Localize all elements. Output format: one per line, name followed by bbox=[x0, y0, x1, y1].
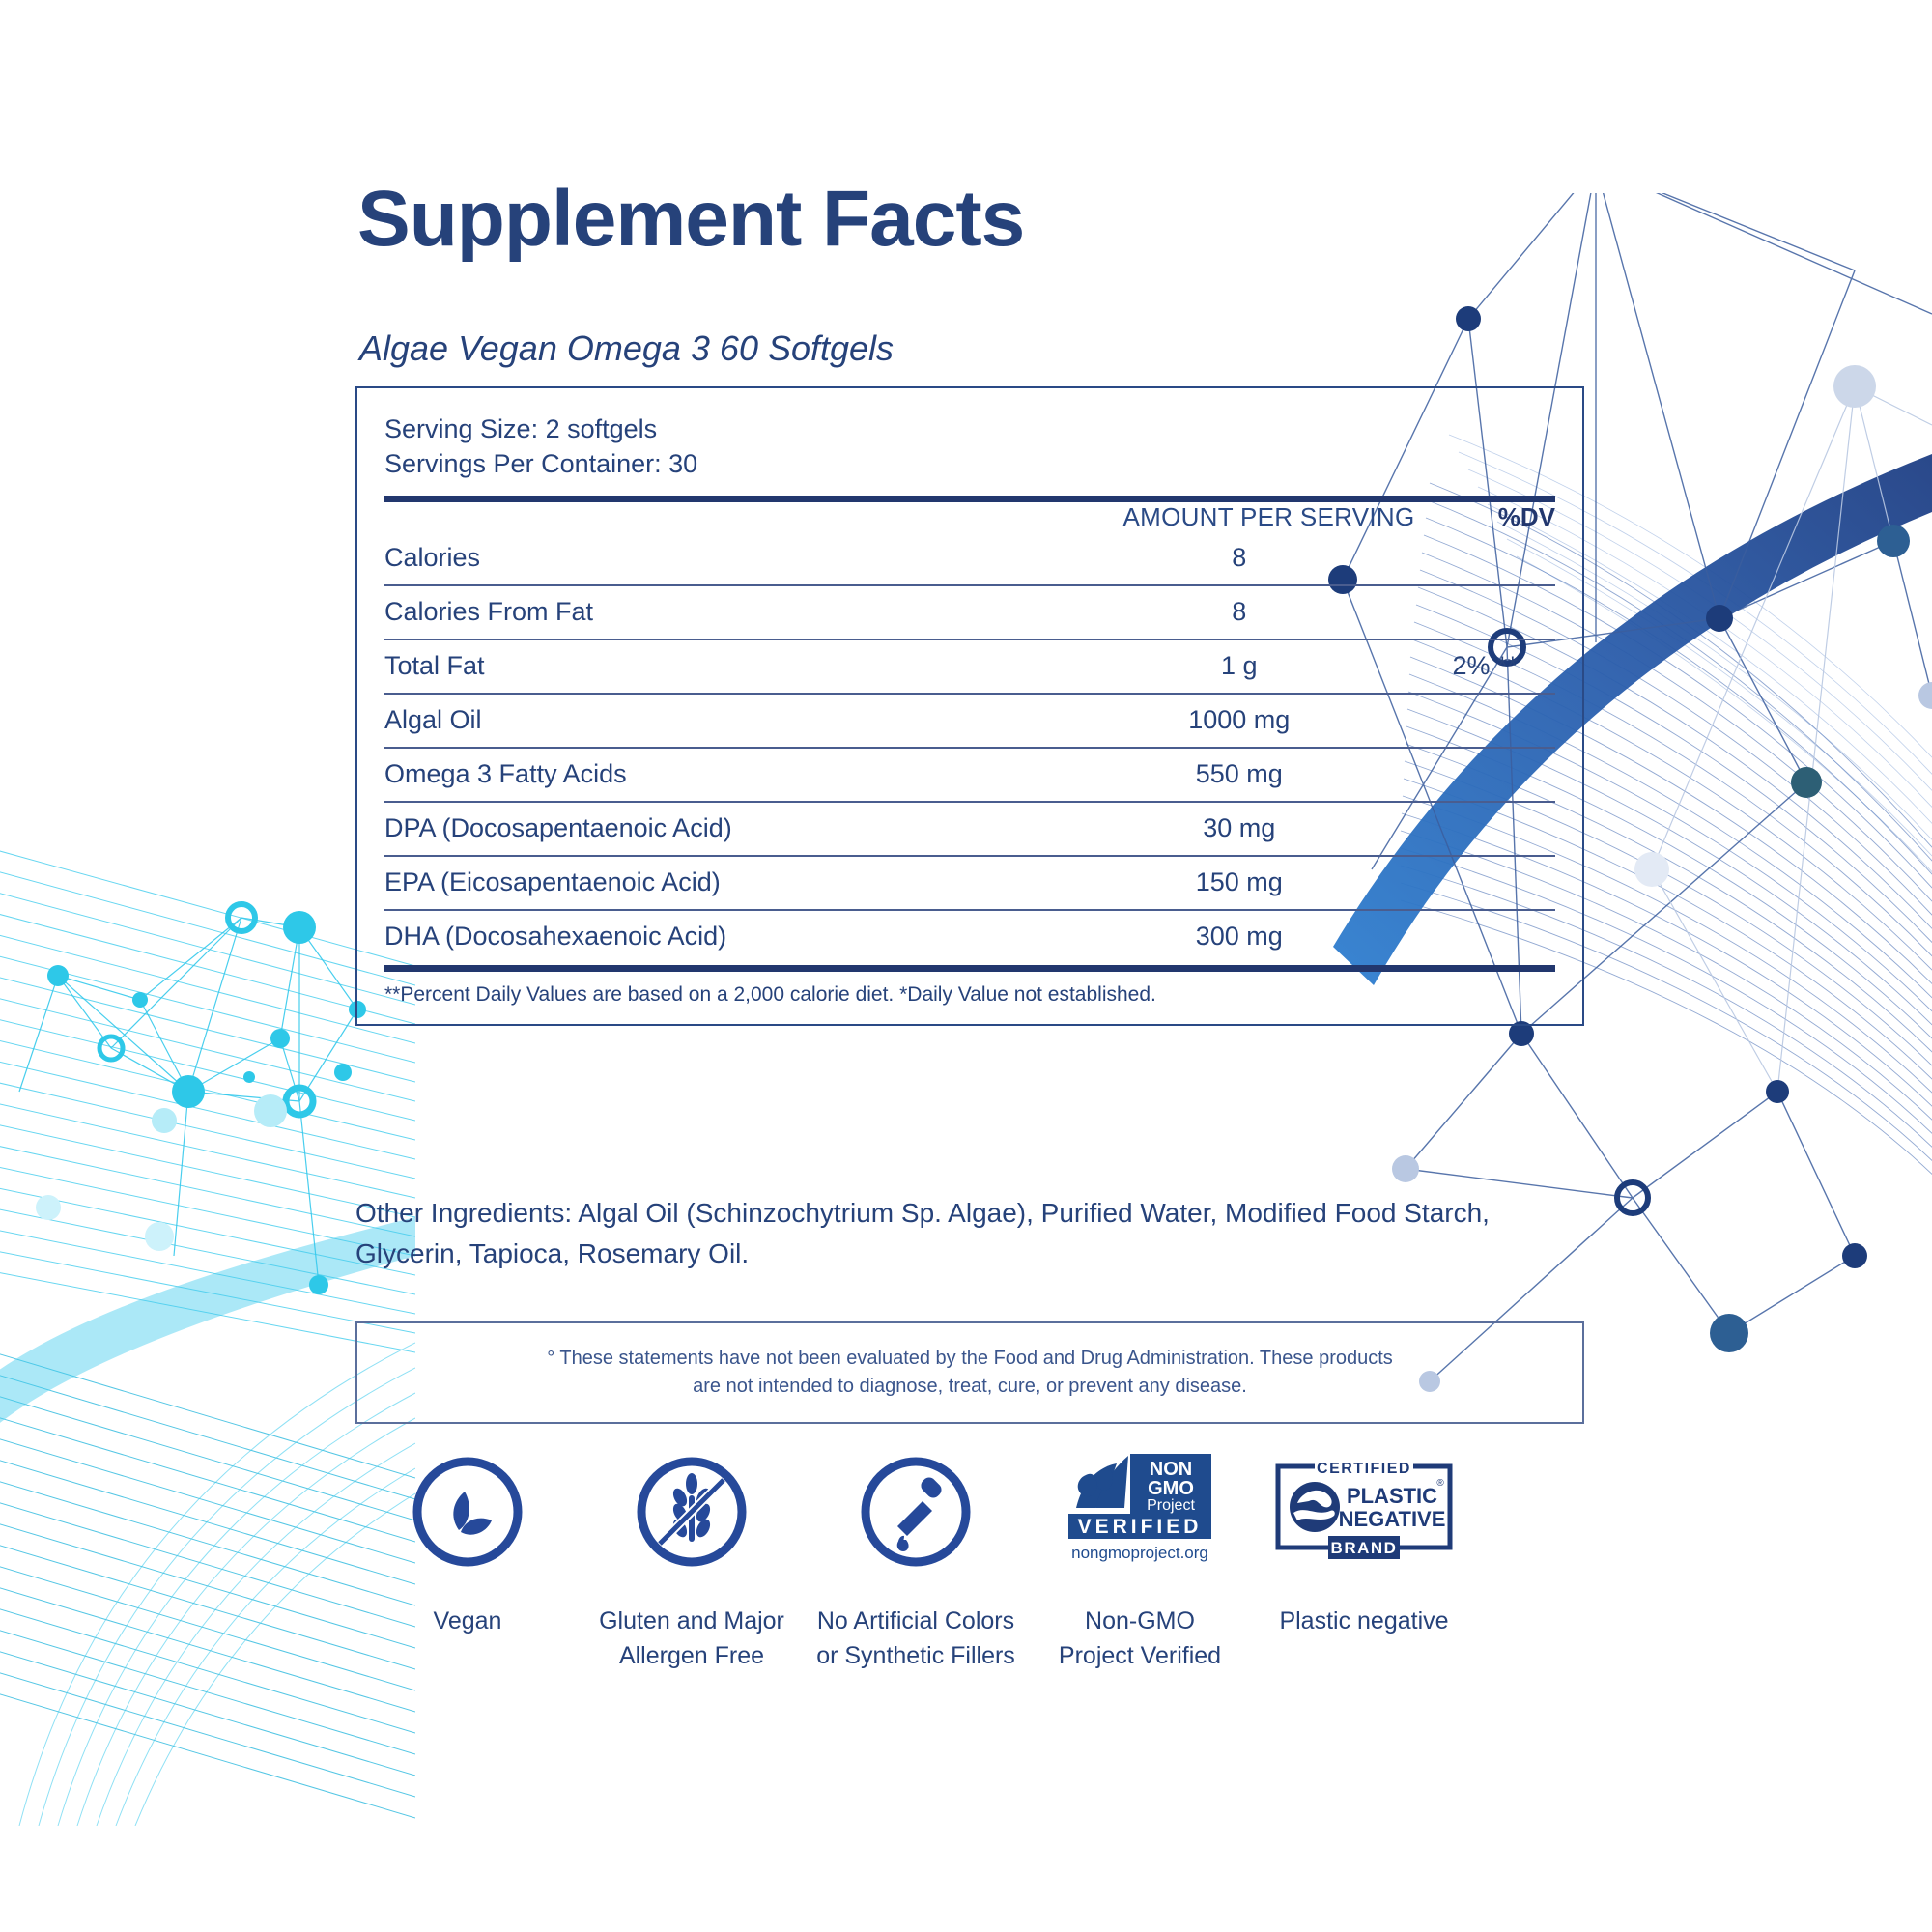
registered-trademark-icon: ® bbox=[1436, 1478, 1444, 1489]
badge-gluten-free: Gluten and MajorAllergen Free bbox=[580, 1439, 804, 1674]
fda-disclaimer-line2: are not intended to diagnose, treat, cur… bbox=[377, 1373, 1563, 1401]
nutrient-name: Calories bbox=[384, 532, 1064, 584]
nutrient-amount: 8 bbox=[1064, 532, 1415, 584]
badge-no-artificial-colors: No Artificial Colorsor Synthetic Fillers bbox=[804, 1439, 1028, 1674]
supplement-facts-panel: Serving Size: 2 softgels Servings Per Co… bbox=[355, 386, 1584, 1026]
nutrient-dv bbox=[1415, 749, 1555, 801]
table-row: DPA (Docosapentaenoic Acid) 30 mg bbox=[384, 803, 1555, 855]
nutrient-name: DHA (Docosahexaenoic Acid) bbox=[384, 911, 1064, 963]
nutrient-name: DPA (Docosapentaenoic Acid) bbox=[384, 803, 1064, 855]
nutrient-amount: 8 bbox=[1064, 586, 1415, 639]
page-title: Supplement Facts bbox=[357, 180, 1024, 259]
non-gmo-text-gmo: GMO bbox=[1148, 1478, 1194, 1499]
certification-badges: Vegan bbox=[355, 1439, 1602, 1674]
nutrient-name: EPA (Eicosapentaenoic Acid) bbox=[384, 857, 1064, 909]
daily-value-footnote: **Percent Daily Values are based on a 2,… bbox=[384, 972, 1555, 1007]
servings-per-container: Servings Per Container: 30 bbox=[384, 446, 1555, 481]
nutrient-dv bbox=[1415, 586, 1555, 639]
nutrient-dv bbox=[1415, 695, 1555, 747]
plastic-negative-text-brand: BRAND bbox=[1331, 1539, 1398, 1557]
serving-size: Serving Size: 2 softgels bbox=[384, 412, 1555, 446]
nutrient-name: Algal Oil bbox=[384, 695, 1064, 747]
nutrient-amount: 1000 mg bbox=[1064, 695, 1415, 747]
other-ingredients: Other Ingredients: Algal Oil (Schinzochy… bbox=[355, 1193, 1602, 1274]
nutrient-dv bbox=[1415, 803, 1555, 855]
nutrient-dv bbox=[1415, 911, 1555, 963]
nutrient-amount: 30 mg bbox=[1064, 803, 1415, 855]
non-gmo-text-verified: VERIFIED bbox=[1078, 1516, 1203, 1538]
column-header-dv: %DV bbox=[1415, 502, 1555, 532]
table-row: Total Fat 1 g 2% ** bbox=[384, 640, 1555, 693]
badge-vegan: Vegan bbox=[355, 1439, 580, 1638]
column-header-amount: AMOUNT PER SERVING bbox=[1064, 502, 1415, 532]
plastic-negative-text-plastic: PLASTIC bbox=[1347, 1484, 1437, 1508]
non-gmo-text-url: nongmoproject.org bbox=[1071, 1544, 1208, 1562]
plastic-negative-text-negative: NEGATIVE bbox=[1339, 1507, 1446, 1531]
non-gmo-text-project: Project bbox=[1147, 1497, 1195, 1514]
nutrient-name: Calories From Fat bbox=[384, 586, 1064, 639]
nutrient-name: Omega 3 Fatty Acids bbox=[384, 749, 1064, 801]
nutrient-amount: 300 mg bbox=[1064, 911, 1415, 963]
badge-label: Plastic negative bbox=[1279, 1604, 1448, 1638]
panel-rule-top bbox=[384, 496, 1555, 502]
badge-label: Gluten and MajorAllergen Free bbox=[599, 1604, 784, 1674]
table-row: DHA (Docosahexaenoic Acid) 300 mg bbox=[384, 911, 1555, 963]
badge-label: Vegan bbox=[434, 1604, 502, 1638]
nutrient-amount: 1 g bbox=[1064, 640, 1415, 693]
plastic-negative-text-certified: CERTIFIED bbox=[1317, 1461, 1411, 1477]
nutrient-dv bbox=[1415, 857, 1555, 909]
table-row: Calories 8 bbox=[384, 532, 1555, 584]
nutrition-table: AMOUNT PER SERVING %DV Calories 8 Calori… bbox=[384, 502, 1555, 963]
nutrient-amount: 150 mg bbox=[1064, 857, 1415, 909]
badge-non-gmo: NON GMO Project VERIFIED nongmoproject.o… bbox=[1028, 1439, 1252, 1674]
plastic-negative-icon: CERTIFIED PLASTIC NEGATIVE ® BRAND bbox=[1274, 1439, 1454, 1584]
nutrient-dv: 2% ** bbox=[1415, 640, 1555, 693]
nutrition-table-body: AMOUNT PER SERVING %DV Calories 8 Calori… bbox=[384, 502, 1555, 963]
table-row: Algal Oil 1000 mg bbox=[384, 695, 1555, 747]
dropper-icon bbox=[859, 1439, 973, 1584]
table-row: Calories From Fat 8 bbox=[384, 586, 1555, 639]
fda-disclaimer-line1: ° These statements have not been evaluat… bbox=[377, 1345, 1563, 1373]
fda-disclaimer-box: ° These statements have not been evaluat… bbox=[355, 1321, 1584, 1424]
wheat-slash-icon bbox=[635, 1439, 749, 1584]
nutrient-amount: 550 mg bbox=[1064, 749, 1415, 801]
panel-rule-bottom bbox=[384, 965, 1555, 972]
nutrient-name: Total Fat bbox=[384, 640, 1064, 693]
badge-plastic-negative: CERTIFIED PLASTIC NEGATIVE ® BRAND Plast… bbox=[1252, 1439, 1476, 1638]
table-row: Omega 3 Fatty Acids 550 mg bbox=[384, 749, 1555, 801]
badge-label: Non-GMOProject Verified bbox=[1059, 1604, 1221, 1674]
table-row: EPA (Eicosapentaenoic Acid) 150 mg bbox=[384, 857, 1555, 909]
nutrition-table-header: AMOUNT PER SERVING %DV bbox=[384, 502, 1555, 532]
nutrient-dv bbox=[1415, 532, 1555, 584]
non-gmo-text-non: NON bbox=[1150, 1459, 1192, 1480]
non-gmo-icon: NON GMO Project VERIFIED nongmoproject.o… bbox=[1066, 1439, 1213, 1584]
badge-label: No Artificial Colorsor Synthetic Fillers bbox=[816, 1604, 1015, 1674]
leaf-icon bbox=[411, 1439, 525, 1584]
product-subtitle: Algae Vegan Omega 3 60 Softgels bbox=[359, 328, 894, 369]
